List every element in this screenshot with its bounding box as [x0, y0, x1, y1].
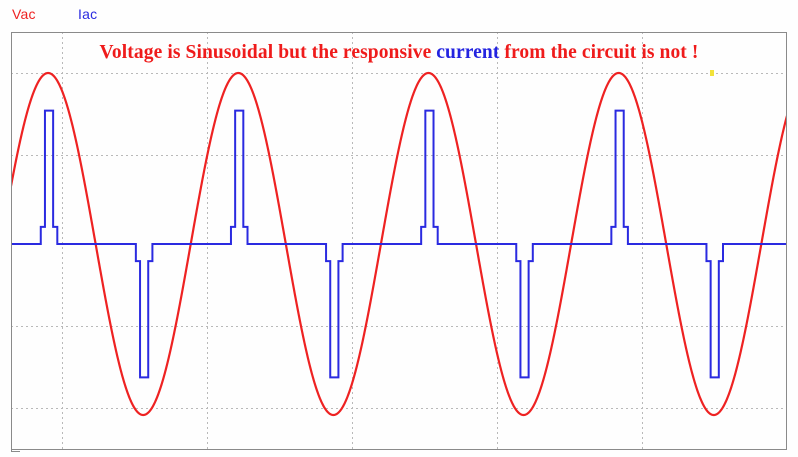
legend-item-vac: Vac [12, 6, 36, 22]
yellow-artifact-dot [710, 70, 714, 76]
waveform-svg [11, 32, 787, 450]
axis-origin-tick [11, 443, 20, 452]
legend: Vac Iac [0, 0, 798, 32]
plot-background [11, 32, 787, 450]
plot-area [11, 32, 787, 450]
waveform-figure: Vac Iac Voltage is Sinusoidal but the re… [0, 0, 798, 457]
legend-item-iac: Iac [78, 6, 97, 22]
